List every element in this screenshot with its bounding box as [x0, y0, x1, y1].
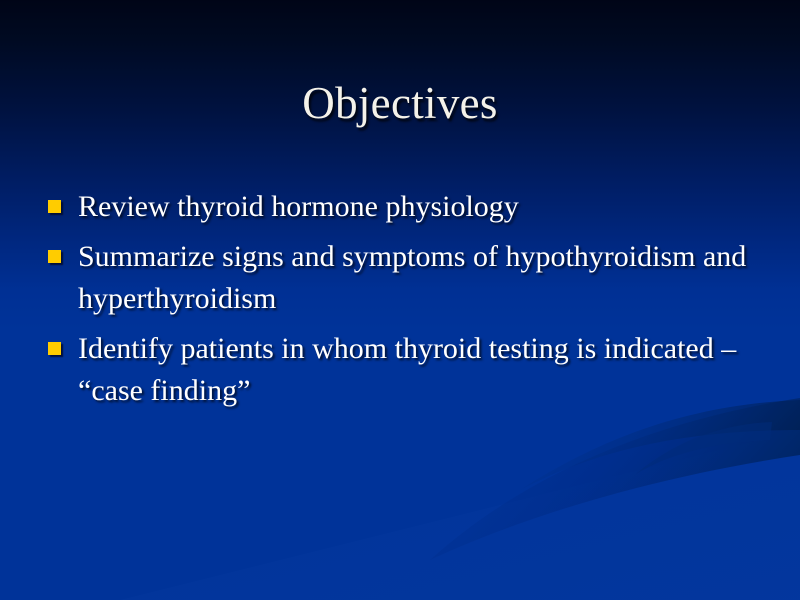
list-item: Review thyroid hormone physiology	[46, 186, 758, 228]
bullet-list: Review thyroid hormone physiology Summar…	[46, 186, 758, 420]
list-item: Summarize signs and symptoms of hypothyr…	[46, 236, 758, 320]
bullet-text: Review thyroid hormone physiology	[78, 186, 758, 228]
bullet-text: Summarize signs and symptoms of hypothyr…	[78, 236, 758, 320]
square-bullet-icon	[48, 250, 61, 263]
bullet-text: Identify patients in whom thyroid testin…	[78, 328, 758, 412]
presentation-slide: Objectives Review thyroid hormone physio…	[0, 0, 800, 600]
square-bullet-icon	[48, 342, 61, 355]
list-item: Identify patients in whom thyroid testin…	[46, 328, 758, 412]
square-bullet-icon	[48, 200, 61, 213]
slide-title: Objectives	[0, 74, 800, 132]
